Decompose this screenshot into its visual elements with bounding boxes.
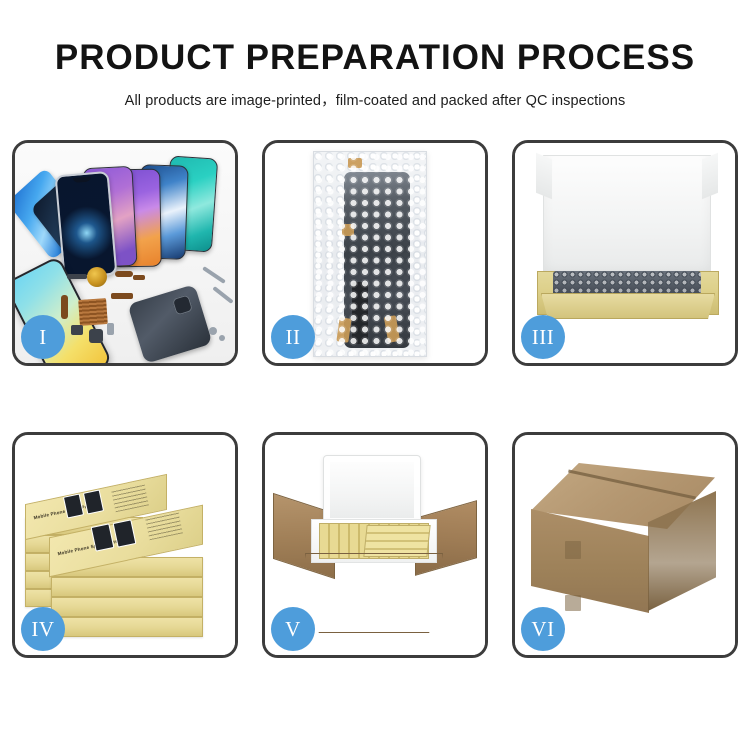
step-4-caption: Individually boxed units stacked: [15, 435, 16, 436]
wrapped-lcd-assembly: [344, 172, 410, 348]
phone-back-housing: [127, 284, 212, 363]
screw-part: [219, 335, 225, 341]
spare-part: [133, 275, 145, 280]
page-subtitle: All products are image-printed，film-coat…: [0, 89, 750, 110]
page-title: PRODUCT PREPARATION PROCESS: [0, 40, 750, 77]
spare-part: [89, 329, 103, 343]
process-step-grid: I Mobile phone LCD screens, tempered gla…: [12, 140, 738, 658]
product-preparation-infographic: PRODUCT PREPARATION PROCESS All products…: [0, 0, 750, 750]
step-6-caption: Carton sealed and ready for shipment: [515, 435, 516, 436]
carton-handle-tab: [565, 541, 581, 559]
outer-carton-body: [305, 553, 443, 633]
step-1-caption: Mobile phone LCD screens, tempered glass…: [15, 143, 16, 144]
packed-boxes: [363, 525, 430, 557]
logic-board-part: [78, 298, 108, 326]
spare-part: [71, 325, 83, 335]
step-4-badge: IV: [21, 607, 65, 651]
step-3-caption: Parts placed into inner carton with foam…: [515, 143, 516, 144]
phone-front-glass: [55, 171, 118, 279]
spare-part: [67, 274, 87, 279]
process-step-5: V Boxes loaded into outer carton with fo…: [262, 432, 488, 658]
screw-part: [209, 327, 217, 335]
spare-part: [61, 295, 68, 319]
tape-strip: [342, 224, 354, 236]
step-2-caption: Single part sealed in bubble wrap bag: [265, 143, 266, 144]
spare-part: [115, 271, 133, 277]
header: PRODUCT PREPARATION PROCESS All products…: [0, 0, 750, 110]
stacked-box: [51, 597, 203, 617]
process-step-4: Mobile Phone Spare Parts Mobile Phone Sp…: [12, 432, 238, 658]
step-6-badge: VI: [521, 607, 565, 651]
box-lid-flap: [543, 155, 711, 279]
tape-strip: [348, 158, 362, 168]
foam-lid: [323, 455, 421, 525]
step-1-badge: I: [21, 315, 65, 359]
process-step-3: III Parts placed into inner carton with …: [512, 140, 738, 366]
process-step-2: II Single part sealed in bubble wrap bag: [262, 140, 488, 366]
inner-box-front: [541, 293, 715, 319]
repair-tool: [212, 286, 233, 304]
bubble-wrap-bag: [313, 151, 427, 357]
step-5-badge: V: [271, 607, 315, 651]
wireless-coil-part: [87, 267, 107, 287]
process-step-6: VI Carton sealed and ready for shipment: [512, 432, 738, 658]
repair-tool: [202, 266, 226, 284]
process-step-1: I Mobile phone LCD screens, tempered gla…: [12, 140, 238, 366]
step-2-badge: II: [271, 315, 315, 359]
step-3-badge: III: [521, 315, 565, 359]
stacked-box: [51, 577, 203, 597]
carton-handle-tab: [565, 595, 581, 611]
stacked-box: [51, 617, 203, 637]
spare-part: [111, 293, 133, 299]
step-5-caption: Boxes loaded into outer carton with foam…: [265, 435, 266, 436]
carton-front-face: [531, 509, 649, 613]
spare-part: [107, 323, 114, 335]
